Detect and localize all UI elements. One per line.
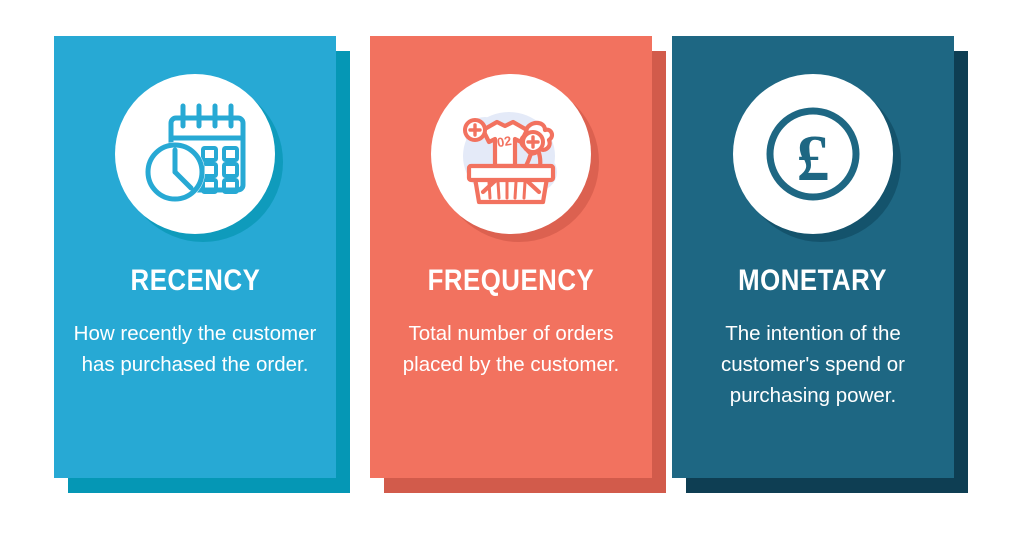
circle-plate: £ (733, 74, 893, 234)
plus-badge-left (465, 120, 485, 140)
circle-plate (115, 74, 275, 234)
card-monetary[interactable]: £ MONETARY The intention of the customer… (672, 36, 954, 478)
card-monetary-icon-slot: £ (723, 64, 903, 244)
card-monetary-description: The intention of the customer's spend or… (689, 318, 937, 411)
card-monetary-body: £ MONETARY The intention of the customer… (672, 36, 954, 478)
circle-plate: 02 (431, 74, 591, 234)
pound-coin-icon: £ (757, 98, 869, 210)
shirt-number-label: 02 (496, 133, 513, 150)
card-recency-title: RECENCY (130, 266, 260, 296)
card-frequency-title: FREQUENCY (428, 266, 595, 296)
rfm-infographic: RECENCY How recently the customer has pu… (0, 0, 1024, 536)
shopping-basket-icon: 02 (453, 98, 569, 210)
plus-badge-right (523, 132, 543, 152)
basket (469, 166, 553, 202)
card-recency-icon-slot (105, 64, 285, 244)
card-recency-description: How recently the customer has purchased … (71, 318, 319, 380)
card-frequency[interactable]: 02 (370, 36, 652, 478)
card-frequency-body: 02 (370, 36, 652, 478)
calendar-clock-icon (141, 102, 249, 206)
pound-symbol: £ (797, 122, 830, 195)
card-monetary-title: MONETARY (739, 266, 888, 296)
card-recency[interactable]: RECENCY How recently the customer has pu… (54, 36, 336, 478)
card-recency-body: RECENCY How recently the customer has pu… (54, 36, 336, 478)
card-frequency-description: Total number of orders placed by the cus… (387, 318, 635, 380)
card-frequency-icon-slot: 02 (421, 64, 601, 244)
